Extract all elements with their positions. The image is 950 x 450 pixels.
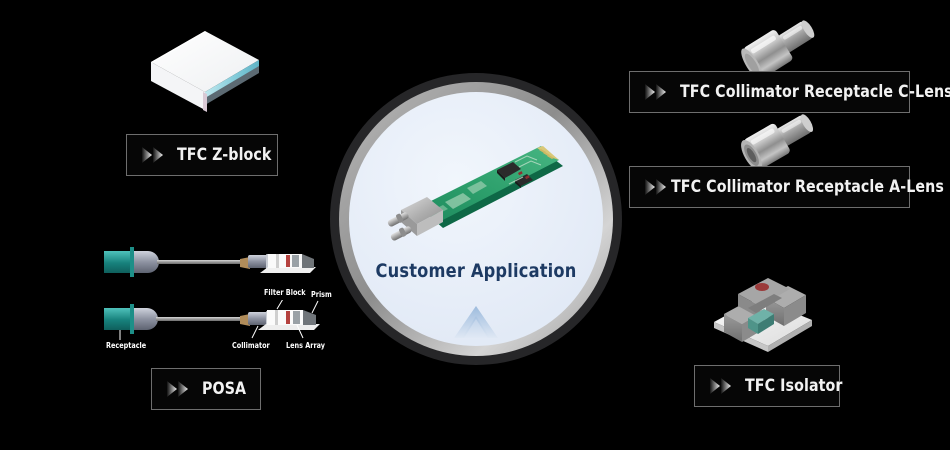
label-collimator-a-lens[interactable]: TFC Collimator Receptacle A-Lens [629,166,910,208]
chevron-up-icon [452,304,500,342]
posa-callout-prism: Prism [311,290,332,299]
double-chevron-right-icon [644,177,670,197]
posa-callout-receptacle: Receptacle [106,341,146,350]
posa-assembly-diagram [100,300,325,342]
label-posa[interactable]: POSA [151,368,261,410]
label-text: TFC Collimator Receptacle C-Lens [680,82,950,102]
double-chevron-right-icon [644,82,670,102]
double-chevron-right-icon [709,376,735,396]
label-isolator[interactable]: TFC Isolator [694,365,840,407]
optical-transceiver-pcb-image [387,140,577,260]
posa-callout-collimator: Collimator [232,341,270,350]
circle-inner-area: Customer Application [349,92,603,346]
double-chevron-right-icon [141,145,167,165]
customer-application-circle[interactable]: Customer Application [330,73,622,365]
collimator-receptacle-a-lens-image [730,112,826,170]
label-text: POSA [202,379,246,399]
z-block-product-image [143,26,267,118]
label-text: TFC Isolator [745,376,843,396]
product-ecosystem-diagram: Customer Application [0,0,950,450]
label-text: TFC Collimator Receptacle A-Lens [671,177,944,197]
posa-callout-lens-array: Lens Array [286,341,325,350]
page-title: Customer Application [355,260,596,282]
posa-callout-filter-block: Filter Block [264,288,306,297]
label-z-block[interactable]: TFC Z-block [126,134,278,176]
label-collimator-c-lens[interactable]: TFC Collimator Receptacle C-Lens [629,71,910,113]
posa-assembly-top-image [100,243,320,289]
isolator-product-image [708,258,818,354]
label-text: TFC Z-block [177,145,271,165]
double-chevron-right-icon [166,379,192,399]
